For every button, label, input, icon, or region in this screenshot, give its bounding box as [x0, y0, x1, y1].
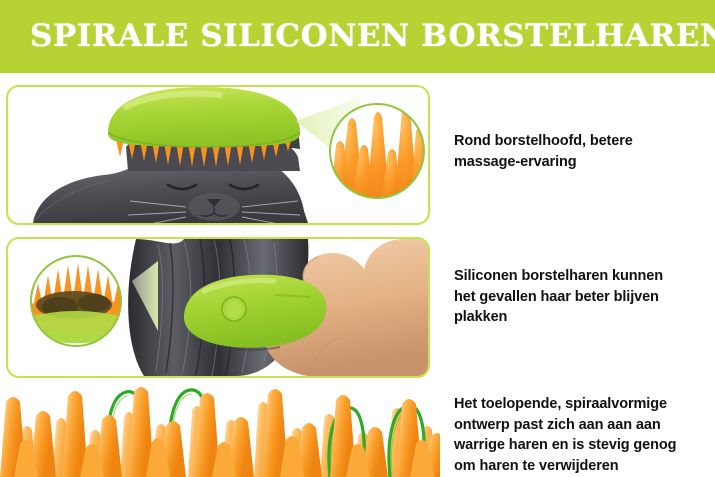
magnifier-circle-trapped-hair [18, 256, 134, 346]
green-brush-dome [108, 87, 300, 147]
header-banner: SPIRALE SILICONEN BORSTELHAREN [0, 0, 715, 73]
panel-hand-brushing-cat [6, 237, 430, 378]
caption-line: massage-ervaring [454, 152, 706, 173]
caption-line: om haren te verwijderen [454, 456, 706, 477]
panel-bristle-closeup [0, 382, 440, 477]
caption-line: het gevallen haar beter blijven [454, 287, 706, 308]
feature-caption-1: Rond borstelhoofd, betere massage-ervari… [454, 131, 706, 172]
caption-line: Siliconen borstelharen kunnen [454, 266, 706, 287]
feature-caption-2: Siliconen borstelharen kunnen het gevall… [454, 266, 706, 328]
feature-caption-3: Het toelopende, spiraalvormige ontwerp p… [454, 394, 706, 476]
magnifier-circle-bristles [330, 104, 428, 207]
caption-line: warrige haren en is stevig genog [454, 435, 706, 456]
panel-round-brush-head [6, 85, 430, 225]
caption-line: Het toelopende, spiraalvormige [454, 394, 706, 415]
panel-2-artwork [8, 239, 428, 376]
caption-line: plakken [454, 307, 706, 328]
panel-1-artwork [8, 87, 428, 223]
caption-line: ontwerp past zich aan aan aan [454, 415, 706, 436]
caption-line: Rond borstelhoofd, betere [454, 131, 706, 152]
panel-3-artwork [0, 382, 440, 477]
page-title: SPIRALE SILICONEN BORSTELHAREN [30, 21, 715, 52]
infographic-page: SPIRALE SILICONEN BORSTELHAREN [0, 0, 715, 477]
